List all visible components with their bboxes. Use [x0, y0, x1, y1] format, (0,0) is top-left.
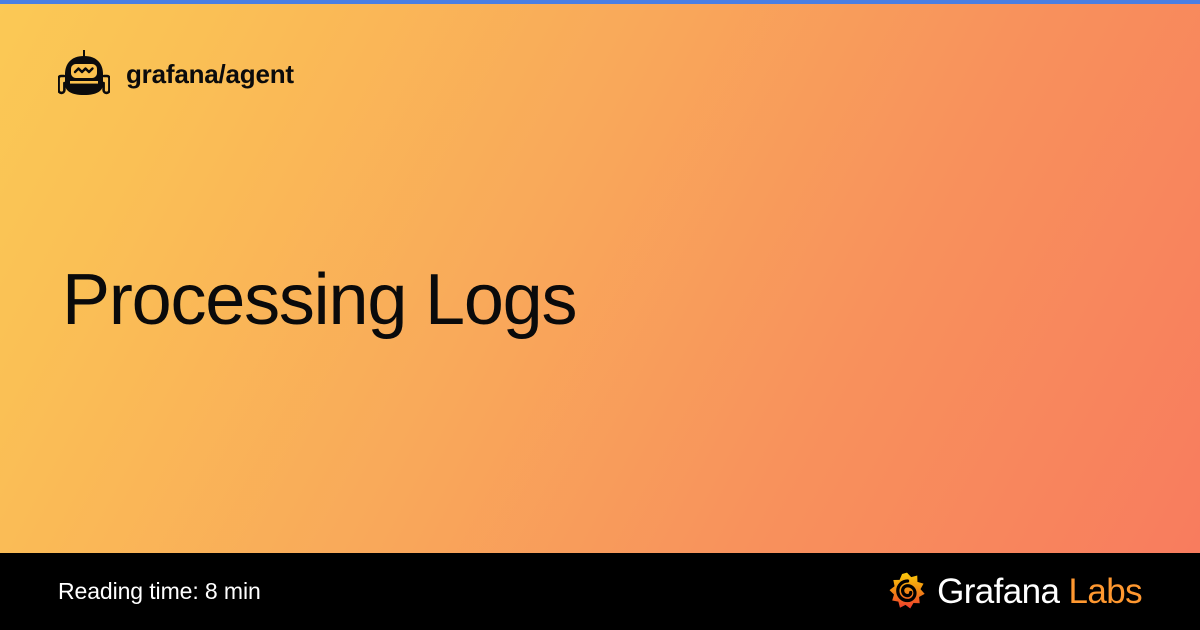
brand-wordmark: Grafana Labs: [937, 574, 1142, 609]
top-accent-bar: [0, 0, 1200, 4]
footer-bar: Reading time: 8 min: [0, 553, 1200, 630]
reading-time-label: Reading time: 8 min: [58, 578, 261, 605]
brand-name-primary: Grafana: [937, 572, 1059, 611]
brand-name-secondary: Labs: [1069, 572, 1143, 611]
title-container: Processing Logs: [62, 262, 1112, 340]
robot-icon: [58, 50, 110, 98]
grafana-logo-icon: [888, 572, 926, 612]
page-title: Processing Logs: [62, 262, 1112, 340]
social-share-card: grafana/agent Processing Logs Reading ti…: [0, 0, 1200, 630]
grafana-labs-logo: Grafana Labs: [888, 572, 1142, 612]
repo-name: grafana/agent: [126, 61, 294, 87]
repo-badge: grafana/agent: [58, 50, 294, 98]
